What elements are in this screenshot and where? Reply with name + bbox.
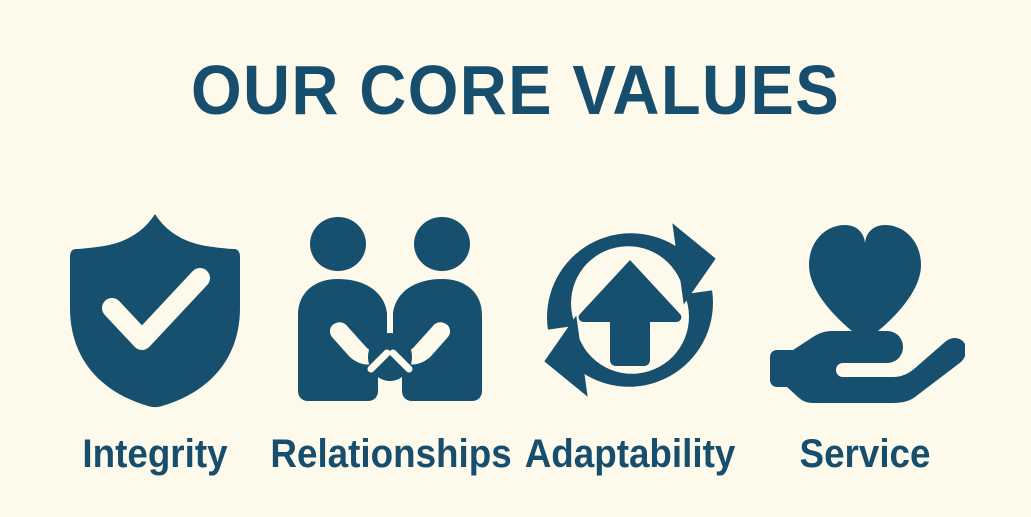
value-item-adaptability bbox=[530, 210, 730, 410]
refresh-cycle-arrow-up-icon bbox=[530, 210, 730, 410]
shield-check-icon bbox=[55, 210, 255, 410]
value-item-service bbox=[765, 210, 965, 410]
value-label-row: Integrity Relationships Adaptability Ser… bbox=[0, 430, 1031, 485]
handshake-icon bbox=[290, 210, 490, 410]
core-values-poster: OUR CORE VALUES bbox=[0, 0, 1031, 517]
value-label-integrity: Integrity bbox=[35, 430, 274, 478]
value-label-service: Service bbox=[745, 430, 984, 478]
value-item-integrity bbox=[55, 210, 255, 410]
heart-in-hand-icon bbox=[765, 210, 965, 410]
value-label-relationships: Relationships bbox=[270, 430, 509, 478]
value-item-relationships bbox=[290, 210, 490, 410]
value-icon-row bbox=[0, 210, 1031, 410]
value-label-adaptability: Adaptability bbox=[510, 430, 749, 478]
page-title: OUR CORE VALUES bbox=[36, 54, 995, 126]
